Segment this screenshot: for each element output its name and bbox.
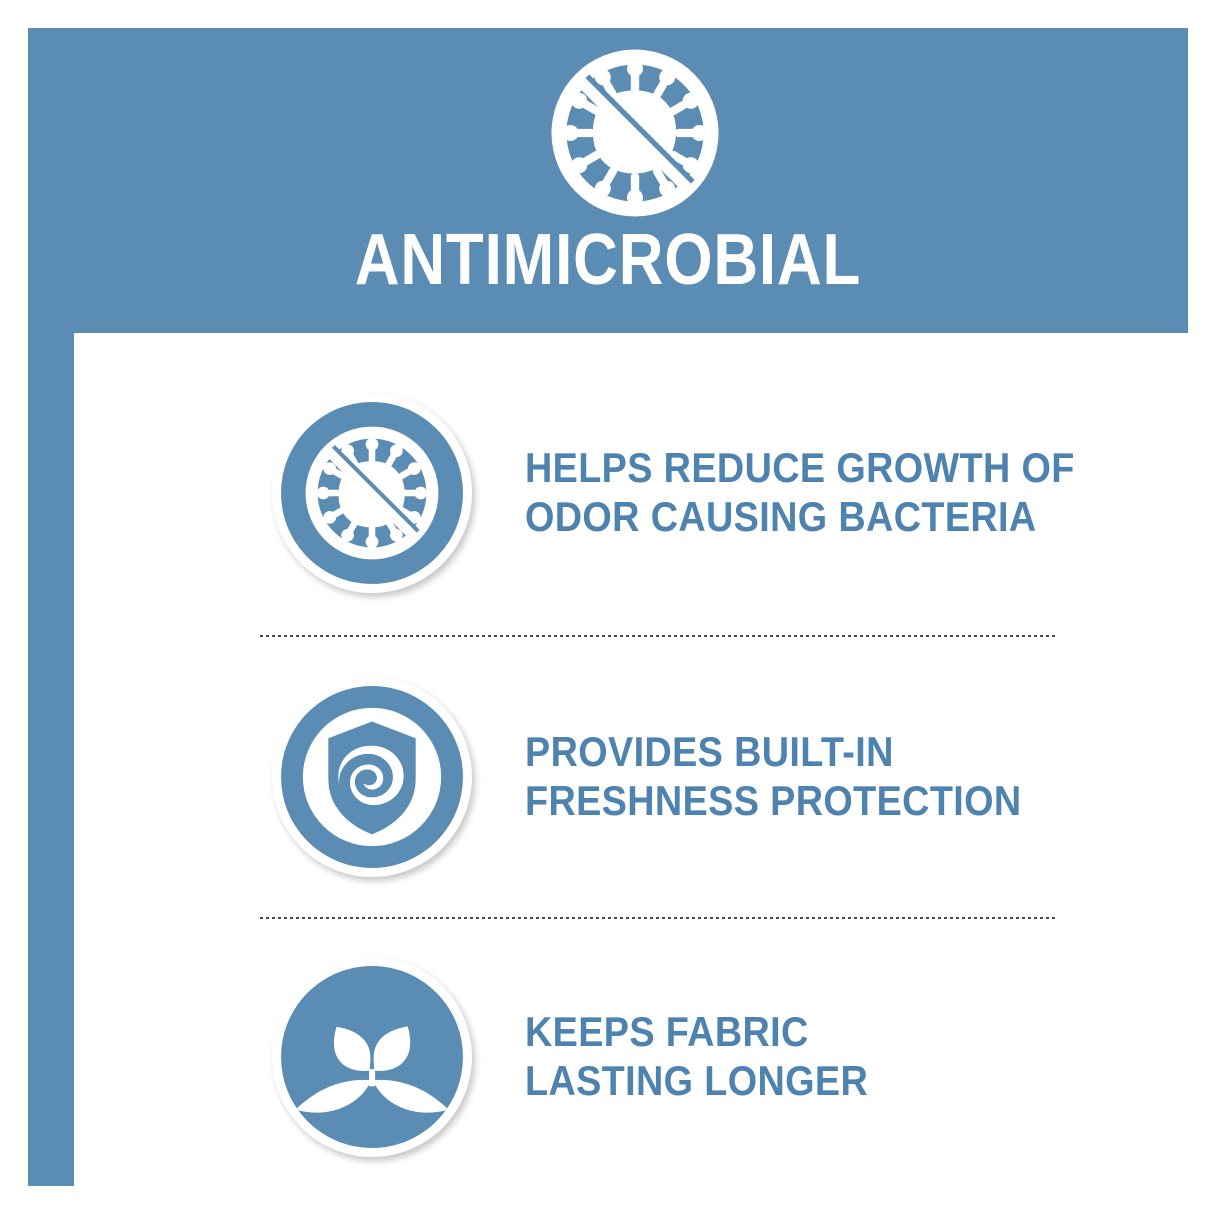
feature-text: KEEPS FABRIC LASTING LONGER [525,1008,868,1105]
page-title: ANTIMICROBIAL [109,224,1107,296]
row-divider [260,635,1057,637]
feature-row: PROVIDES BUILT-IN FRESHNESS PROTECTION [74,669,1198,885]
feature-line-1: PROVIDES BUILT-IN [525,728,1022,777]
feature-row: KEEPS FABRIC LASTING LONGER [74,949,1198,1165]
no-germ-icon [548,46,722,220]
feature-line-2: ODOR CAUSING BACTERIA [525,493,1075,542]
row-divider [260,917,1057,919]
infographic-canvas: ANTIMICROBIAL [0,0,1214,1214]
feature-line-2: FRESHNESS PROTECTION [525,777,1022,826]
feature-line-1: HELPS REDUCE GROWTH OF [525,444,1075,493]
feature-text: HELPS REDUCE GROWTH OF ODOR CAUSING BACT… [525,444,1075,541]
brand-panel: ANTIMICROBIAL [28,28,1188,1186]
feature-line-1: KEEPS FABRIC [525,1008,868,1057]
feature-row: HELPS REDUCE GROWTH OF ODOR CAUSING BACT… [74,385,1198,601]
feature-line-2: LASTING LONGER [525,1057,868,1106]
leaf-sprout-icon [272,957,472,1157]
features-panel: HELPS REDUCE GROWTH OF ODOR CAUSING BACT… [74,333,1198,1196]
no-germ-icon [272,393,472,593]
feature-text: PROVIDES BUILT-IN FRESHNESS PROTECTION [525,728,1022,825]
shield-swirl-icon [272,677,472,877]
